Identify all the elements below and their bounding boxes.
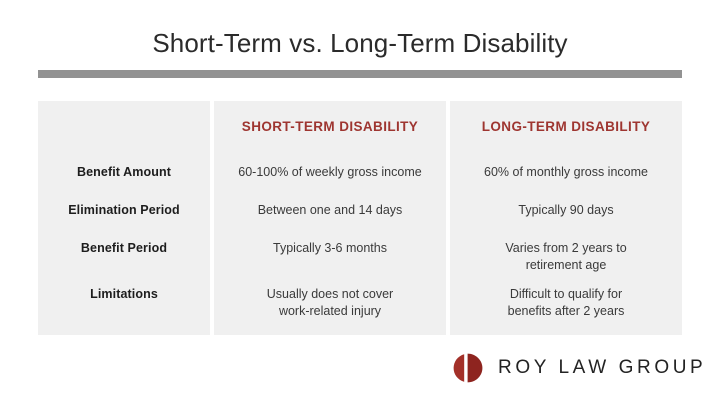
cell-line-1: 60% of monthly gross income: [460, 164, 672, 181]
cell-line-2: retirement age: [460, 257, 672, 274]
cell-long-term-limitations: Difficult to qualify for benefits after …: [460, 286, 672, 320]
long-term-values-list: 60% of monthly gross income Typically 90…: [450, 149, 682, 335]
brand-logo-text: ROY LAW GROUP: [498, 357, 706, 379]
cell-line-1: Difficult to qualify for: [460, 286, 672, 303]
row-label-benefit-amount: Benefit Amount: [48, 164, 200, 181]
column-header-short-term: SHORT-TERM DISABILITY: [214, 119, 446, 134]
short-term-values-list: 60-100% of weekly gross income Between o…: [214, 149, 446, 335]
row-label-elimination-period: Elimination Period: [48, 202, 200, 219]
cell-line-1: Typically 3-6 months: [224, 240, 436, 257]
cell-line-1: Between one and 14 days: [224, 202, 436, 219]
cell-short-term-benefit-period: Typically 3-6 months: [224, 240, 436, 257]
row-label-limitations: Limitations: [48, 286, 200, 303]
cell-long-term-elimination-period: Typically 90 days: [460, 202, 672, 219]
cell-line-1: 60-100% of weekly gross income: [224, 164, 436, 181]
column-header-long-term: LONG-TERM DISABILITY: [450, 119, 682, 134]
roy-law-group-mark-icon: [450, 350, 486, 386]
cell-short-term-elimination-period: Between one and 14 days: [224, 202, 436, 219]
long-term-disability-column: LONG-TERM DISABILITY 60% of monthly gros…: [450, 101, 682, 335]
comparison-table: Benefit Amount Elimination Period Benefi…: [38, 101, 682, 335]
cell-line-2: benefits after 2 years: [460, 303, 672, 320]
cell-line-2: work-related injury: [224, 303, 436, 320]
cell-line-1: Varies from 2 years to: [460, 240, 672, 257]
cell-long-term-benefit-period: Varies from 2 years to retirement age: [460, 240, 672, 274]
row-label-benefit-period: Benefit Period: [48, 240, 200, 257]
page-title: Short-Term vs. Long-Term Disability: [0, 28, 720, 59]
cell-short-term-limitations: Usually does not cover work-related inju…: [224, 286, 436, 320]
cell-line-1: Typically 90 days: [460, 202, 672, 219]
brand-logo: ROY LAW GROUP: [450, 347, 706, 389]
cell-long-term-benefit-amount: 60% of monthly gross income: [460, 164, 672, 181]
cell-line-1: Usually does not cover: [224, 286, 436, 303]
cell-short-term-benefit-amount: 60-100% of weekly gross income: [224, 164, 436, 181]
row-labels-panel: Benefit Amount Elimination Period Benefi…: [38, 101, 210, 335]
short-term-disability-column: SHORT-TERM DISABILITY 60-100% of weekly …: [214, 101, 446, 335]
row-labels-list: Benefit Amount Elimination Period Benefi…: [38, 149, 210, 335]
title-divider-rule: [38, 70, 682, 78]
